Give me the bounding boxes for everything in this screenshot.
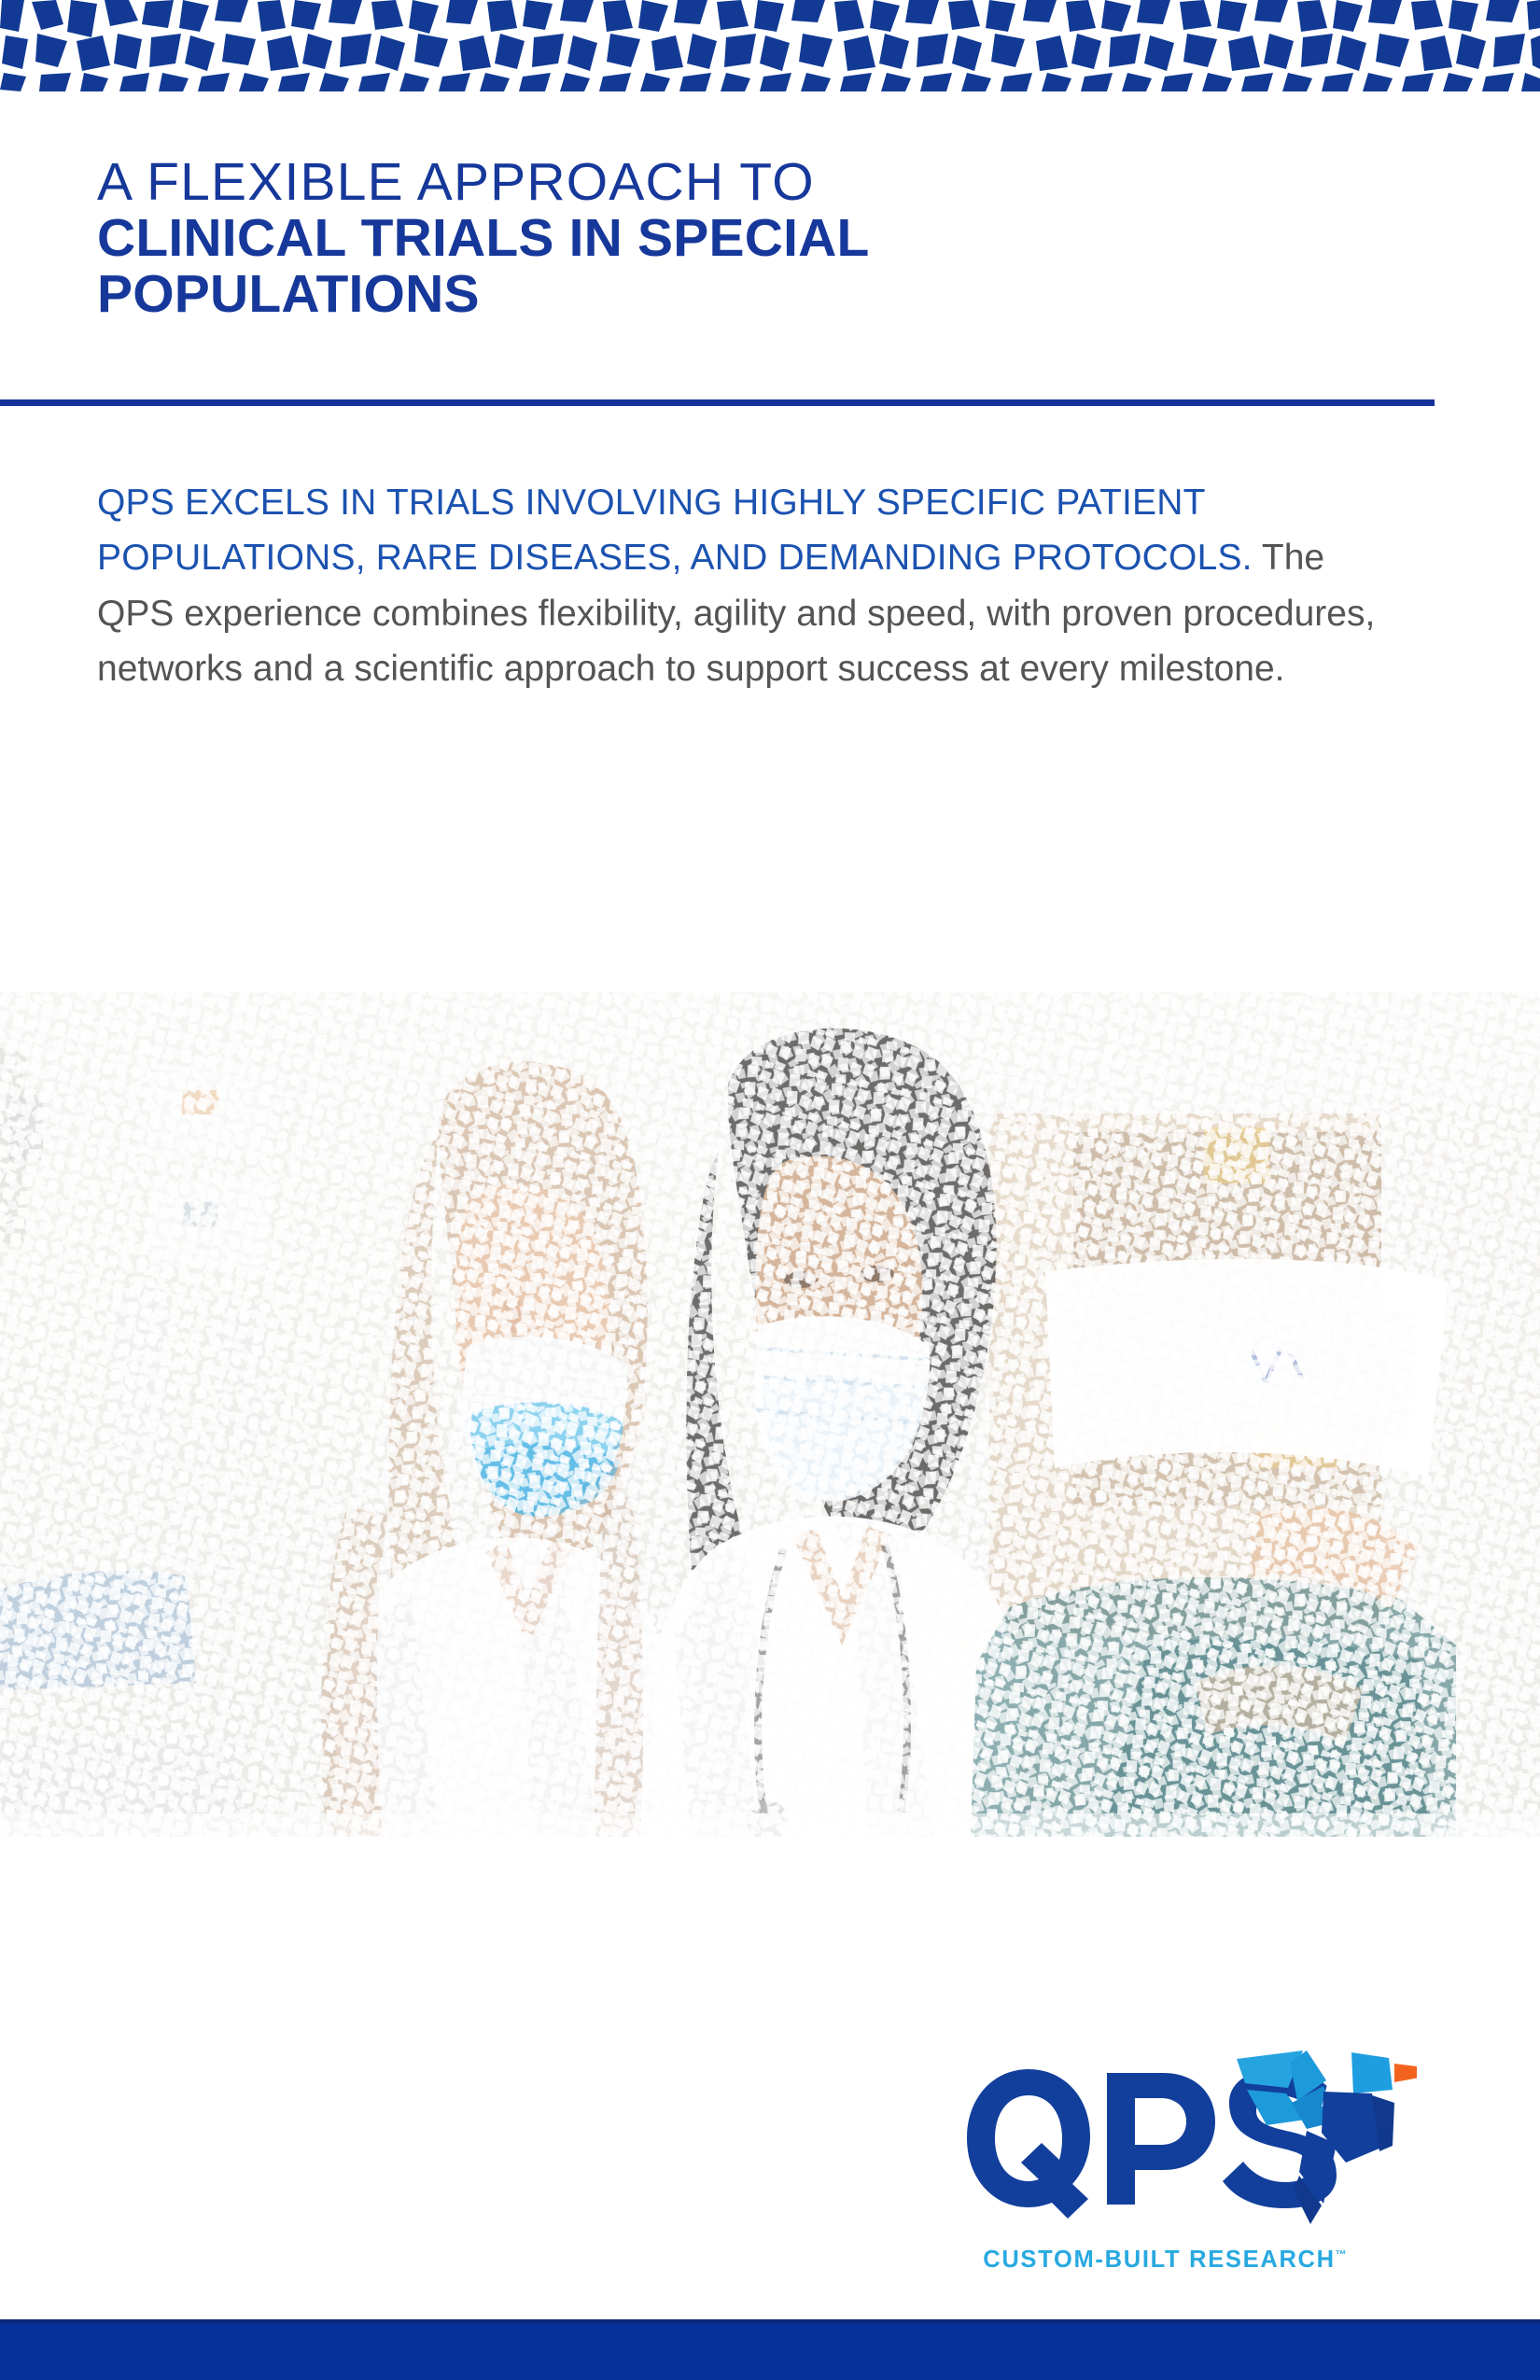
- qps-logo-mark: [950, 2039, 1417, 2240]
- logo-tagline-text: CUSTOM-BUILT RESEARCH: [983, 2247, 1336, 2273]
- header-divider-rule: [0, 399, 1435, 406]
- qps-logo: CUSTOM-BUILT RESEARCH™: [950, 2039, 1417, 2301]
- intro-paragraph: QPS EXCELS IN TRIALS INVOLVING HIGHLY SP…: [97, 475, 1404, 696]
- top-mosaic-band: [0, 0, 1540, 93]
- footer-bar-topline: [0, 2319, 1540, 2324]
- page-title: A FLEXIBLE APPROACH TO CLINICAL TRIALS I…: [97, 154, 1329, 322]
- clinical-staff-photo: [0, 992, 1540, 1837]
- qps-wordmark-icon: [967, 2069, 1337, 2219]
- mosaic-pattern-svg: [0, 0, 1540, 93]
- trademark-symbol: ™: [1336, 2248, 1347, 2261]
- logo-tagline: CUSTOM-BUILT RESEARCH™: [950, 2247, 1379, 2274]
- headline-line-2: CLINICAL TRIALS IN SPECIAL: [97, 210, 1329, 266]
- headline-line-3: POPULATIONS: [97, 266, 1329, 322]
- headline-line-1: A FLEXIBLE APPROACH TO: [97, 154, 1329, 210]
- footer-bar: [0, 2319, 1540, 2380]
- photo-mosaic-svg: [0, 992, 1540, 1837]
- intro-lead-in: QPS EXCELS IN TRIALS INVOLVING HIGHLY SP…: [97, 483, 1253, 578]
